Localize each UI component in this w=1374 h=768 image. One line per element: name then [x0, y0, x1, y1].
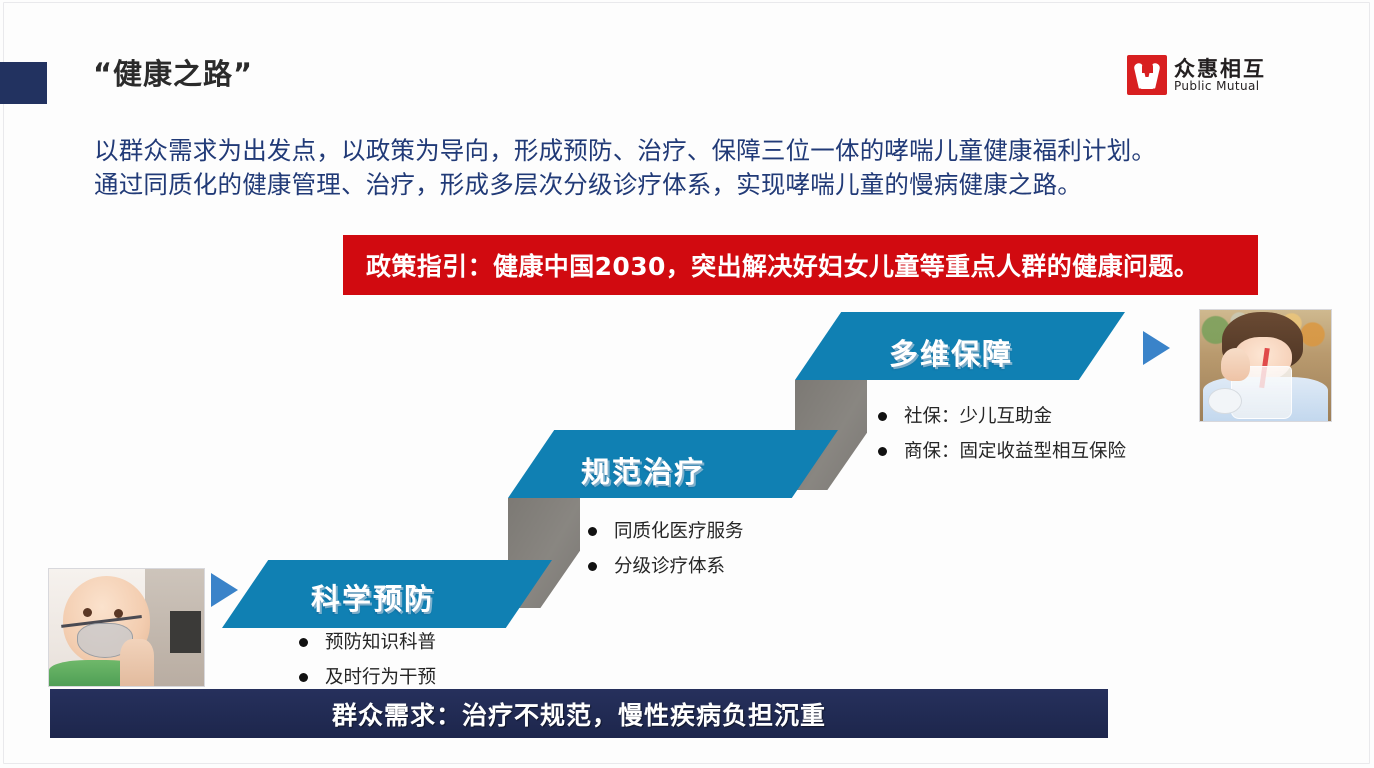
intro-line-2: 通过同质化的健康管理、治疗，形成多层次分级诊疗体系，实现哮喘儿童的慢病健康之路。: [94, 168, 1284, 202]
child-drinking-photo: [1199, 309, 1332, 422]
brand-logo: 众惠相互 Public Mutual: [1127, 55, 1266, 95]
step-prevention-arrow-icon: [211, 573, 238, 607]
slide-canvas: “健康之路” 众惠相互 Public Mutual 以群众需求为出发点，以政策为…: [0, 0, 1374, 768]
policy-banner: 政策指引：健康中国2030，突出解决好妇女儿童等重点人群的健康问题。: [343, 235, 1258, 295]
brand-name-en: Public Mutual: [1174, 80, 1266, 93]
list-item: 社保：少儿互助金: [876, 399, 1126, 434]
intro-paragraph: 以群众需求为出发点，以政策为导向，形成预防、治疗、保障三位一体的哮喘儿童健康福利…: [94, 134, 1284, 202]
list-item: 商保：固定收益型相互保险: [876, 434, 1126, 469]
slide-border: [3, 2, 1370, 764]
need-bar: 群众需求：治疗不规范，慢性疾病负担沉重: [50, 689, 1108, 738]
policy-banner-text: 政策指引：健康中国2030，突出解决好妇女儿童等重点人群的健康问题。: [343, 247, 1199, 283]
intro-line-1: 以群众需求为出发点，以政策为导向，形成预防、治疗、保障三位一体的哮喘儿童健康福利…: [94, 134, 1284, 168]
page-title: “健康之路”: [93, 51, 253, 93]
step-prevention-label: 科学预防: [311, 576, 435, 618]
list-item: 同质化医疗服务: [586, 514, 744, 549]
mutual-logo-icon: [1127, 55, 1167, 95]
step-treatment-label: 规范治疗: [581, 449, 705, 491]
brand-name-cn: 众惠相互: [1174, 58, 1266, 80]
step-prevention-bullets: 预防知识科普 及时行为干预: [297, 625, 436, 695]
child-with-nebulizer-mask-photo: [48, 568, 205, 687]
need-bar-text: 群众需求：治疗不规范，慢性疾病负担沉重: [332, 696, 826, 732]
step-coverage-bullets: 社保：少儿互助金 商保：固定收益型相互保险: [876, 399, 1126, 469]
step-coverage-arrow-icon: [1143, 331, 1170, 365]
step-coverage-label: 多维保障: [889, 331, 1013, 373]
header-accent-block: [0, 62, 47, 104]
list-item: 分级诊疗体系: [586, 549, 744, 584]
step-treatment-bullets: 同质化医疗服务 分级诊疗体系: [586, 514, 744, 584]
list-item: 预防知识科普: [297, 625, 436, 660]
